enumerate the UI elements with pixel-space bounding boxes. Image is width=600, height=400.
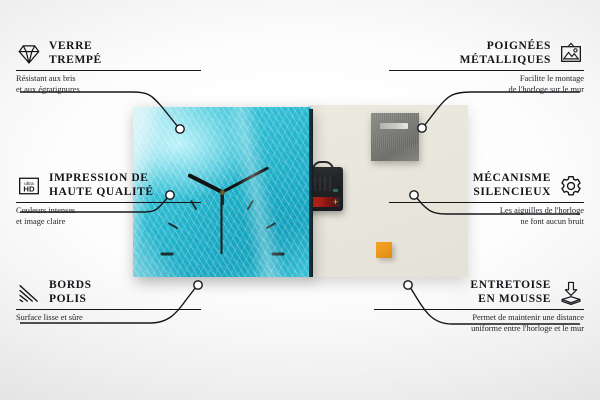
feature-sub-line1: Résistant aux bris <box>16 74 76 83</box>
feature-bords-polis: BORDS POLIS Surface lisse et sûre <box>16 279 201 324</box>
feature-title-line1: MÉCANISME <box>473 172 551 184</box>
metal-handle-plate <box>371 113 419 161</box>
feature-sub-line1: Surface lisse et sûre <box>16 313 83 322</box>
feature-rule <box>16 70 201 71</box>
mechanism-hanger-loop <box>312 161 334 172</box>
feature-sub-line2: et image claire <box>16 217 65 226</box>
feature-rule <box>16 202 201 203</box>
feature-title-line2: SILENCIEUX <box>473 186 551 198</box>
feature-title-line1: ENTRETOISE <box>470 279 551 291</box>
feature-sub-line2: de l'horloge sur le mur <box>509 85 584 94</box>
feature-rule <box>16 309 201 310</box>
polished-edges-icon <box>16 280 42 306</box>
battery-plus-marker: + <box>332 199 339 206</box>
gear-icon <box>558 173 584 199</box>
clock-second-hand <box>221 192 223 254</box>
feature-title-line1: POIGNÉES <box>487 40 551 52</box>
feature-impression-haute-qualite: ultra HD IMPRESSION DE HAUTE QUALITÉ Cou… <box>16 172 201 227</box>
feature-title-line2: EN MOUSSE <box>478 293 551 305</box>
feature-rule <box>389 202 584 203</box>
framed-picture-icon <box>558 41 584 67</box>
feature-sub-line1: Facilite le montage <box>520 74 584 83</box>
feature-sub-line1: Permet de maintenir une distance <box>472 313 584 322</box>
feature-title-line1: IMPRESSION DE <box>49 172 149 184</box>
feature-rule <box>374 309 584 310</box>
feature-sub-line2: et aux égratignures <box>16 85 80 94</box>
feature-sub-line1: Les aiguilles de l'horloge <box>500 206 584 215</box>
foam-spacer <box>376 242 392 258</box>
ultra-hd-icon: ultra HD <box>16 173 42 199</box>
diamond-icon <box>16 41 42 67</box>
clock-side-edge <box>309 109 313 277</box>
feature-poignees-metalliques: POIGNÉES MÉTALLIQUES Facilite le montage… <box>389 40 584 95</box>
feature-verre-trempe: VERRE TREMPÉ Résistant aux bris et aux é… <box>16 40 201 95</box>
feature-sub-line2: uniforme entre l'horloge et le mur <box>471 324 584 333</box>
feature-title-line2: MÉTALLIQUES <box>460 54 551 66</box>
clock-tick <box>271 253 284 256</box>
feature-sub-line1: Couleurs intenses <box>16 206 75 215</box>
feature-rule <box>389 70 584 71</box>
clock-tick <box>221 192 224 205</box>
feature-entretoise-en-mousse: ENTRETOISE EN MOUSSE Permet de maintenir… <box>374 279 584 334</box>
feature-mecanisme-silencieux: MÉCANISME SILENCIEUX Les aiguilles de l'… <box>389 172 584 227</box>
feature-title-line2: HAUTE QUALITÉ <box>49 186 154 198</box>
feature-sub-line2: ne font aucun bruit <box>521 217 585 226</box>
clock-minute-hand <box>221 166 268 193</box>
feature-title-line1: BORDS <box>49 279 92 291</box>
clock-tick <box>247 200 254 211</box>
feature-title-line2: POLIS <box>49 293 87 305</box>
clock-tick <box>266 222 277 229</box>
clock-tick <box>160 253 173 256</box>
infographic-canvas: + <box>0 0 600 400</box>
feature-title-line2: TREMPÉ <box>49 54 102 66</box>
svg-text:HD: HD <box>23 184 35 193</box>
mechanism-label-dot <box>333 189 338 192</box>
press-down-pad-icon <box>558 280 584 306</box>
handle-slot <box>380 123 408 129</box>
clock-center-pin <box>220 190 225 195</box>
feature-title-line1: VERRE <box>49 40 92 52</box>
